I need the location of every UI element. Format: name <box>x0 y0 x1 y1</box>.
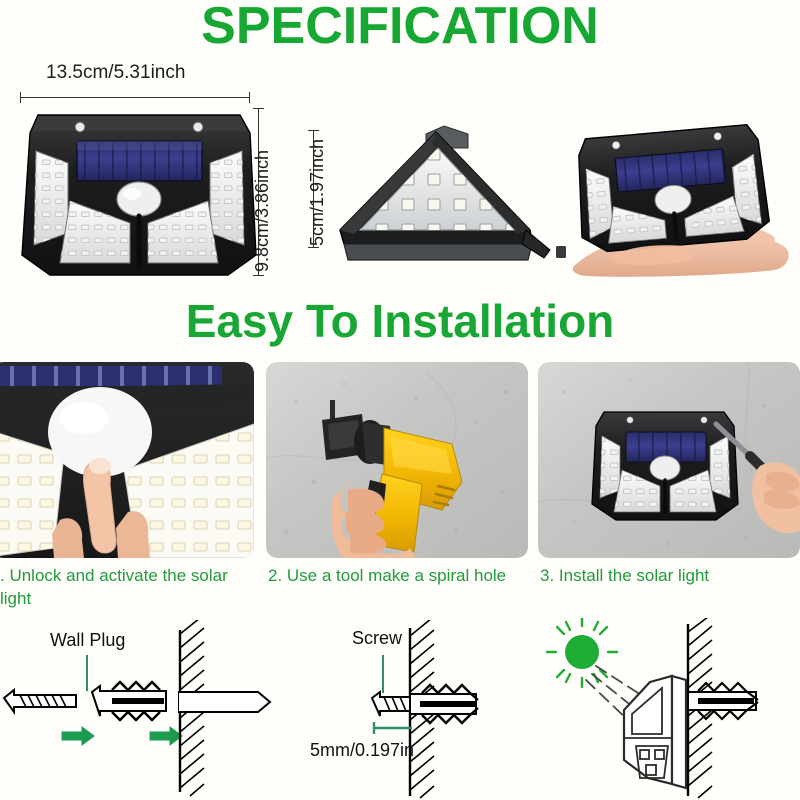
screw-dimension-label: 5mm/0.197in <box>310 740 414 761</box>
dimension-label-width: 13.5cm/5.31inch <box>46 62 185 84</box>
solar-lamp-in-hand <box>556 118 800 288</box>
step-3-photo <box>538 362 800 558</box>
step-2-photo <box>266 362 528 558</box>
wall-hatching-left <box>178 620 298 800</box>
dimension-line-width <box>20 97 250 98</box>
wall-mounting-sun-diagram <box>540 618 800 800</box>
dimension-label-height: 9.8cm/3.86inch <box>252 150 273 272</box>
solar-lamp-side-view <box>318 118 558 263</box>
wall-plug-insertion-diagram <box>0 620 200 800</box>
step-3-caption: 3. Install the solar light <box>540 565 790 588</box>
page-title-specification: SPECIFICATION <box>0 0 800 56</box>
step-1-caption: . Unlock and activate the solar light <box>0 565 240 611</box>
step-1-photo <box>0 362 254 558</box>
product-spec-infographic: SPECIFICATION 13.5cm/5.31inch <box>0 0 800 800</box>
section-title-easy-installation: Easy To Installation <box>0 294 800 348</box>
step-2-caption: 2. Use a tool make a spiral hole <box>268 565 518 588</box>
screw-into-plug-diagram <box>300 620 540 800</box>
solar-lamp-front-view <box>14 105 264 285</box>
